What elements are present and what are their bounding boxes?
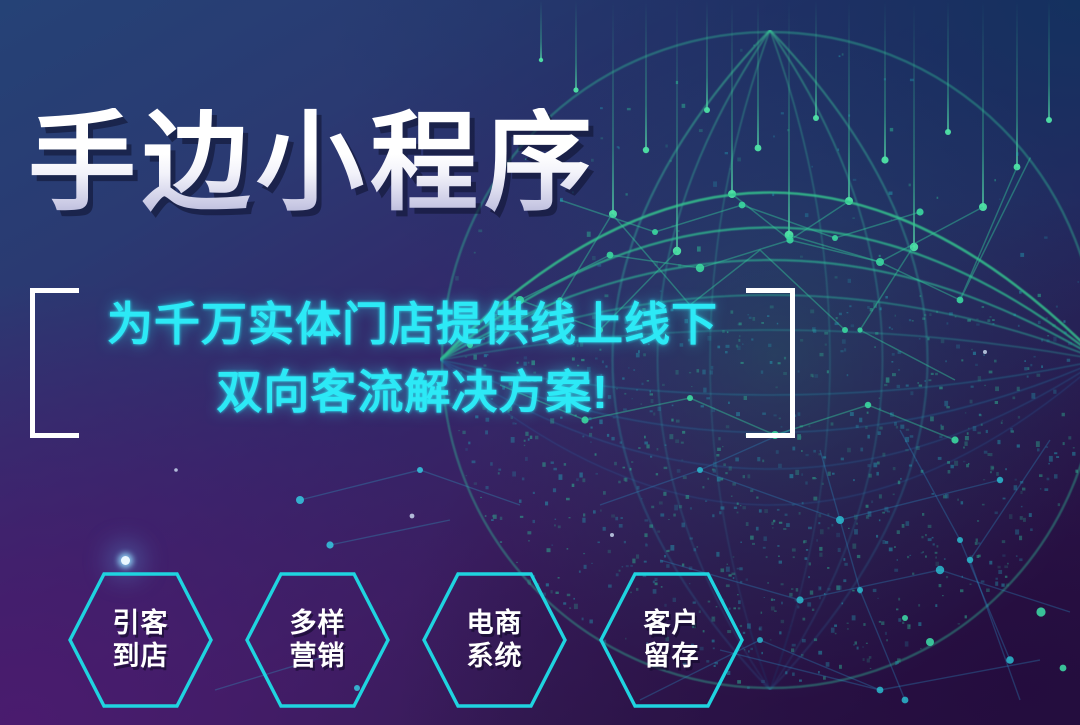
feature-badge-duoyang-yingxiao[interactable]: 多样 营销 [245, 566, 390, 714]
feature-badge-label: 引客 到店 [68, 566, 213, 714]
feature-badge-label: 客户 留存 [599, 566, 744, 714]
feature-badge-dianshang-xitong[interactable]: 电商 系统 [422, 566, 567, 714]
subtitle-line-1: 为千万实体门店提供线上线下 [74, 290, 751, 358]
bracket-right-icon [746, 288, 795, 438]
subtitle-text: 为千万实体门店提供线上线下 双向客流解决方案! [74, 290, 751, 426]
sparkle-glow-icon [121, 556, 130, 565]
badge-line-2: 营销 [290, 640, 346, 673]
badge-line-2: 系统 [467, 640, 523, 673]
badge-line-1: 客户 [644, 607, 700, 640]
subtitle-line-2: 双向客流解决方案! [74, 358, 751, 426]
feature-badge-yinke-daodian[interactable]: 引客 到店 [68, 566, 213, 714]
bracket-left-icon [30, 288, 79, 438]
badge-line-1: 多样 [290, 607, 346, 640]
feature-badge-kehu-liucun[interactable]: 客户 留存 [599, 566, 744, 714]
feature-badge-label: 电商 系统 [422, 566, 567, 714]
feature-badge-row: 引客 到店 多样 营销 电商 系统 [68, 566, 768, 714]
badge-line-1: 电商 [467, 607, 523, 640]
badge-line-1: 引客 [113, 607, 169, 640]
subtitle-block: 为千万实体门店提供线上线下 双向客流解决方案! [30, 288, 795, 428]
page-title: 手边小程序 [28, 108, 598, 218]
feature-badge-label: 多样 营销 [245, 566, 390, 714]
promo-banner: 手边小程序 为千万实体门店提供线上线下 双向客流解决方案! 引客 到店 多样 [0, 0, 1080, 725]
badge-line-2: 到店 [113, 640, 169, 673]
badge-line-2: 留存 [644, 640, 700, 673]
